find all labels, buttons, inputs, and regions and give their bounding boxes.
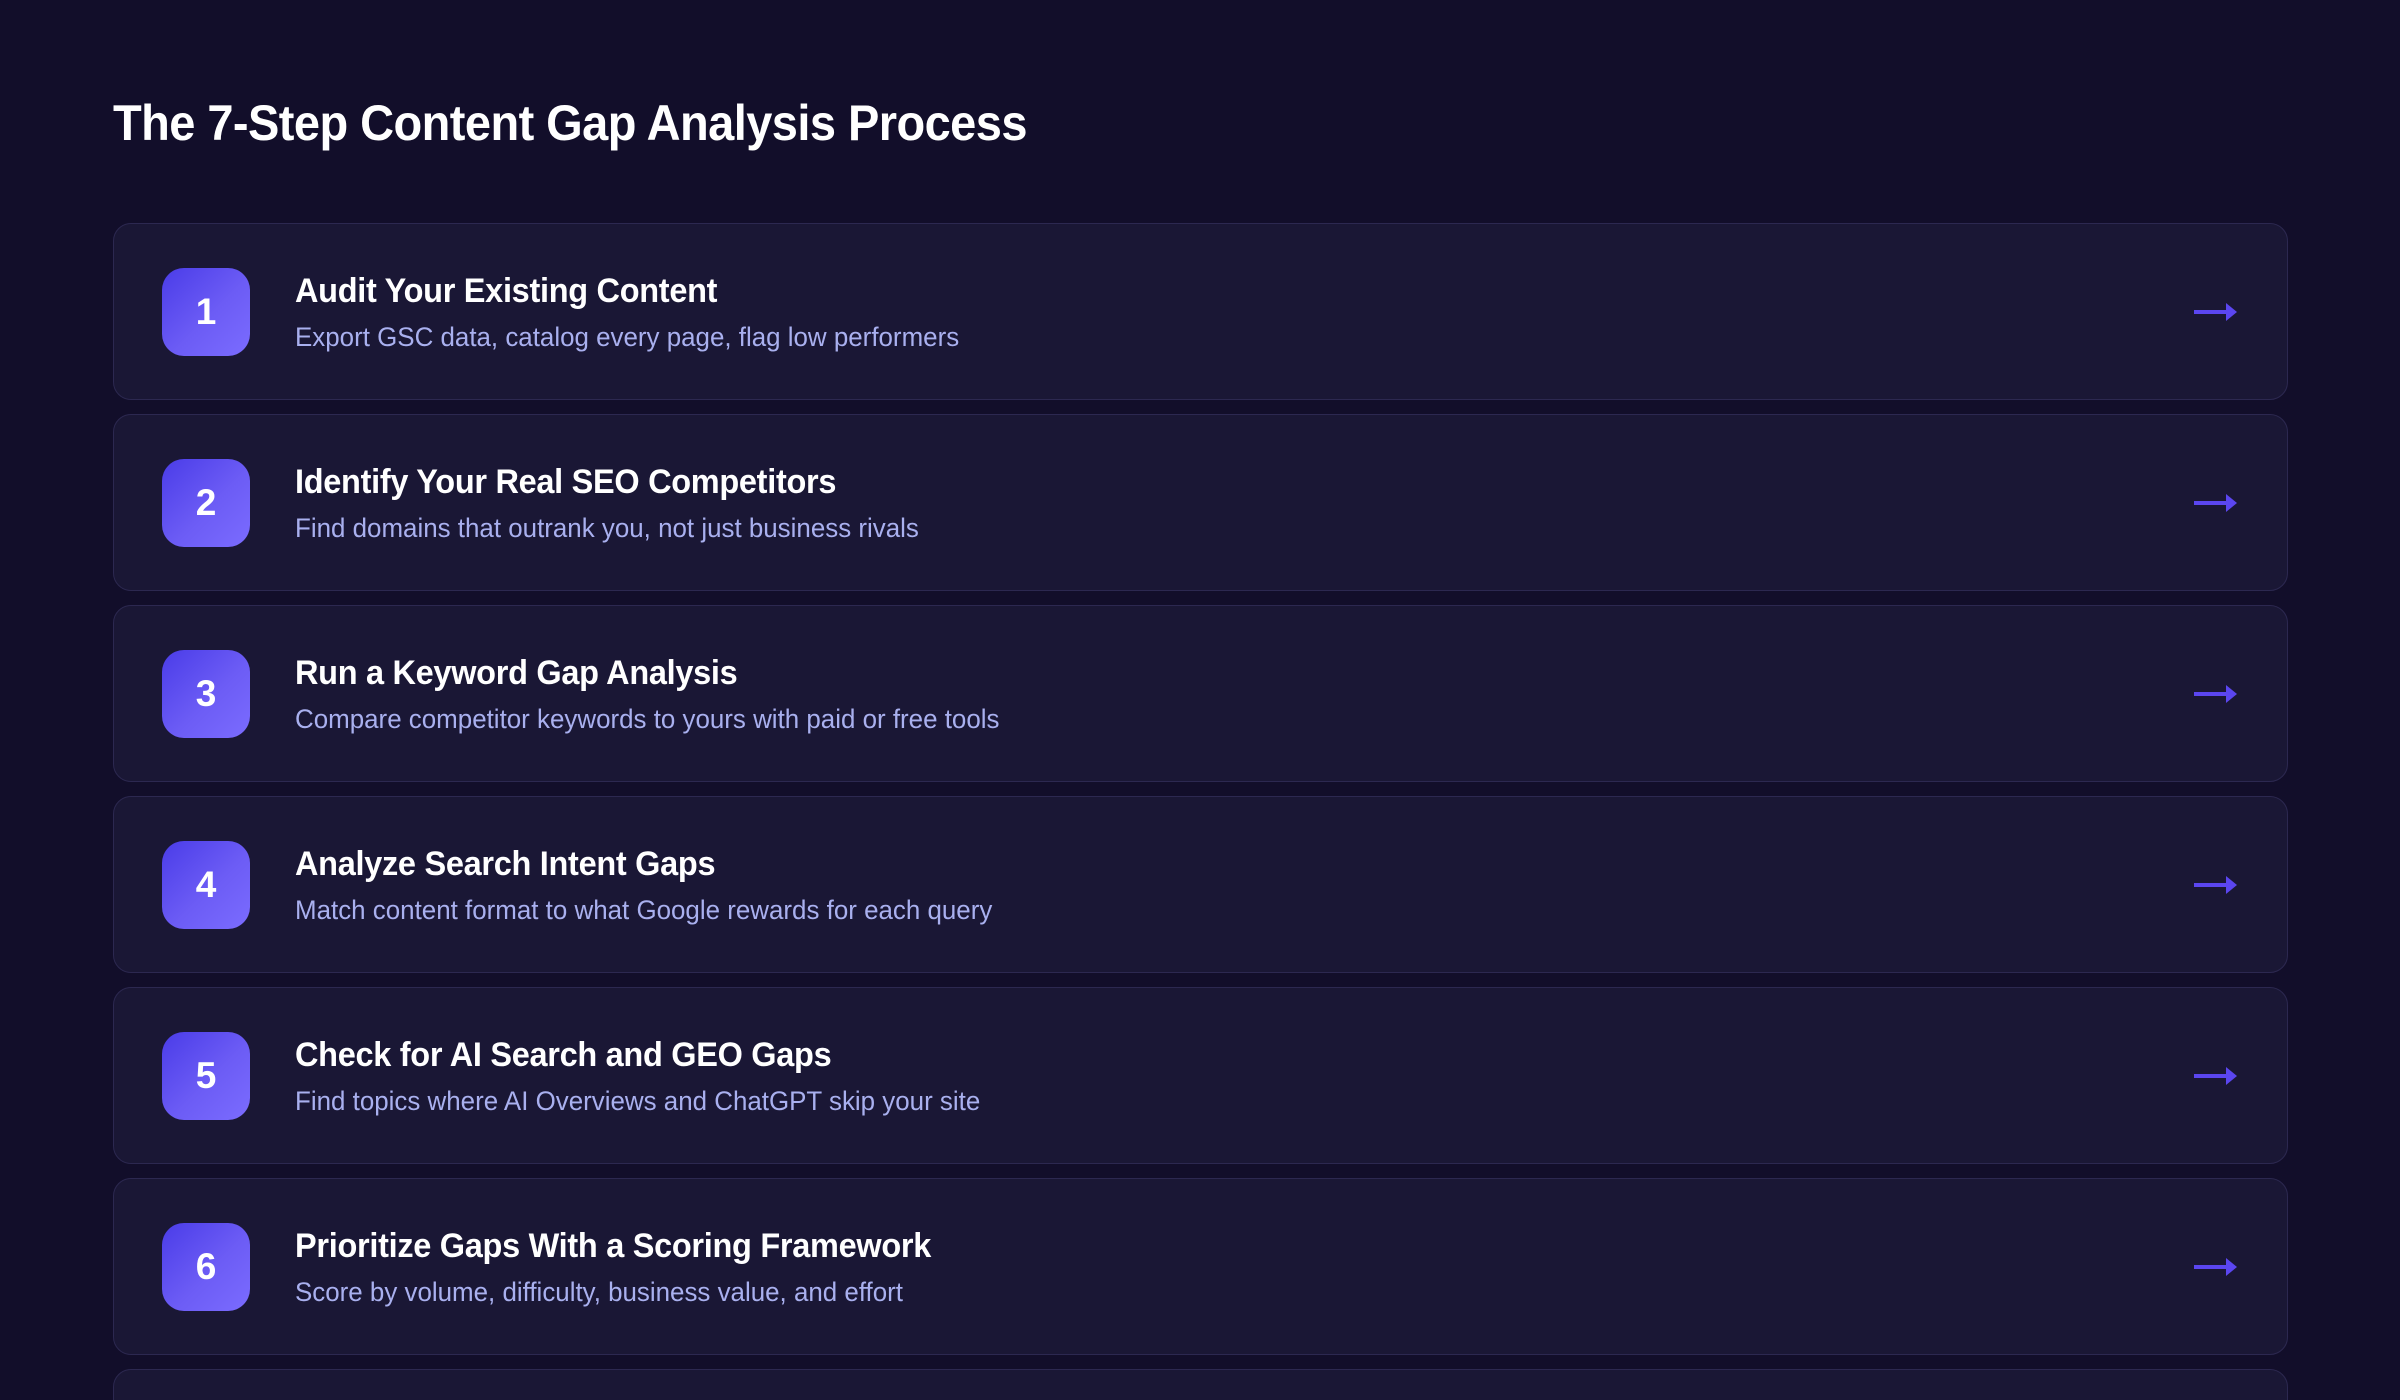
arrow-right-icon[interactable]: [2191, 1060, 2243, 1092]
step-text-block: Identify Your Real SEO Competitors Find …: [295, 461, 2161, 545]
step-number-badge: 1: [162, 268, 250, 356]
step-title: Check for AI Search and GEO Gaps: [295, 1034, 2077, 1076]
step-card[interactable]: 6 Prioritize Gaps With a Scoring Framewo…: [113, 1178, 2288, 1355]
step-description: Find topics where AI Overviews and ChatG…: [295, 1084, 2086, 1118]
step-text-block: Run a Keyword Gap Analysis Compare compe…: [295, 652, 2161, 736]
steps-list: 1 Audit Your Existing Content Export GSC…: [113, 223, 2288, 1400]
step-description: Export GSC data, catalog every page, fla…: [295, 320, 2086, 354]
page-title: The 7-Step Content Gap Analysis Process: [113, 93, 1027, 153]
step-card[interactable]: 2 Identify Your Real SEO Competitors Fin…: [113, 414, 2288, 591]
page-root: The 7-Step Content Gap Analysis Process …: [0, 0, 2400, 1400]
step-card[interactable]: 3 Run a Keyword Gap Analysis Compare com…: [113, 605, 2288, 782]
arrow-right-icon[interactable]: [2191, 296, 2243, 328]
step-text-block: Prioritize Gaps With a Scoring Framework…: [295, 1225, 2161, 1309]
step-number-badge: 4: [162, 841, 250, 929]
step-description: Compare competitor keywords to yours wit…: [295, 702, 2086, 736]
step-card[interactable]: 1 Audit Your Existing Content Export GSC…: [113, 223, 2288, 400]
arrow-right-icon[interactable]: [2191, 487, 2243, 519]
arrow-right-icon[interactable]: [2191, 869, 2243, 901]
step-number-badge: 3: [162, 650, 250, 738]
step-text-block: Audit Your Existing Content Export GSC d…: [295, 270, 2161, 354]
step-number-badge: 6: [162, 1223, 250, 1311]
step-description: Score by volume, difficulty, business va…: [295, 1275, 2086, 1309]
step-card[interactable]: 5 Check for AI Search and GEO Gaps Find …: [113, 987, 2288, 1164]
arrow-right-icon[interactable]: [2191, 678, 2243, 710]
arrow-right-icon[interactable]: [2191, 1251, 2243, 1283]
step-card[interactable]: 4 Analyze Search Intent Gaps Match conte…: [113, 796, 2288, 973]
step-number-badge: 5: [162, 1032, 250, 1120]
step-text-block: Analyze Search Intent Gaps Match content…: [295, 843, 2161, 927]
step-text-block: Check for AI Search and GEO Gaps Find to…: [295, 1034, 2161, 1118]
step-description: Find domains that outrank you, not just …: [295, 511, 2086, 545]
step-card[interactable]: 7: [113, 1369, 2288, 1400]
step-title: Identify Your Real SEO Competitors: [295, 461, 2077, 503]
step-title: Audit Your Existing Content: [295, 270, 2077, 312]
step-title: Run a Keyword Gap Analysis: [295, 652, 2077, 694]
step-title: Analyze Search Intent Gaps: [295, 843, 2077, 885]
step-number-badge: 2: [162, 459, 250, 547]
step-title: Prioritize Gaps With a Scoring Framework: [295, 1225, 2077, 1267]
step-description: Match content format to what Google rewa…: [295, 893, 2086, 927]
